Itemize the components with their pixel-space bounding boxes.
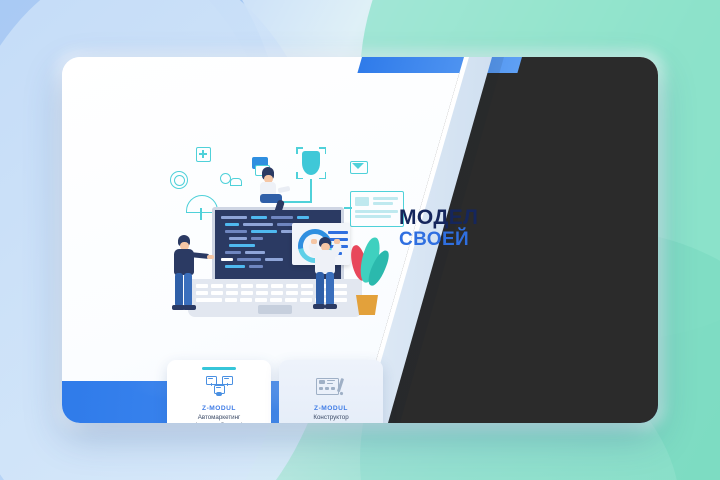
landing-builder-icon	[316, 375, 346, 401]
shield-icon	[296, 147, 326, 179]
feature-card-subtitle: Конструктор посадочных страниц	[295, 414, 366, 424]
feature-cards: Z-MODUL Автомаркетинг (почтовый агент) Z…	[167, 360, 383, 423]
laptop-trackpad	[258, 305, 292, 314]
top-blue-strip	[357, 57, 522, 73]
man-holding-card-figure	[310, 237, 344, 317]
connector-line	[344, 207, 352, 209]
feature-card-landing-builder[interactable]: Z-MODUL Конструктор посадочных страниц	[279, 360, 383, 423]
plus-icon	[196, 147, 211, 162]
feature-card-title: Z-MODUL	[202, 405, 236, 412]
woman-figure	[254, 167, 288, 213]
browser-window-icon	[350, 191, 404, 227]
umbrella-handle-icon	[200, 208, 202, 220]
mail-automation-icon	[204, 375, 234, 401]
headline-line-1: МОДЕЛ	[399, 207, 478, 229]
web-development-illustration	[154, 145, 394, 330]
man-pointing-figure	[170, 235, 204, 317]
card-accent-bar	[202, 367, 236, 370]
cloud-icon	[230, 178, 242, 186]
headline-line-2: СВОЕЙ	[399, 229, 478, 250]
feature-card-title: Z-MODUL	[314, 405, 348, 412]
screenshot-root: Z-MODUL Автомаркетинг (почтовый агент) Z…	[0, 0, 720, 480]
connector-line	[310, 179, 312, 201]
card-accent-bar	[314, 367, 348, 370]
plant-pot	[356, 295, 378, 315]
timer-icon	[170, 171, 188, 189]
headline: МОДЕЛ СВОЕЙ	[399, 207, 478, 250]
envelope-icon	[350, 161, 368, 174]
feature-card-automarketing[interactable]: Z-MODUL Автомаркетинг (почтовый агент)	[167, 360, 271, 423]
feature-card-subtitle: Автомаркетинг (почтовый агент)	[189, 414, 249, 424]
showcase-card: Z-MODUL Автомаркетинг (почтовый агент) Z…	[62, 57, 658, 423]
